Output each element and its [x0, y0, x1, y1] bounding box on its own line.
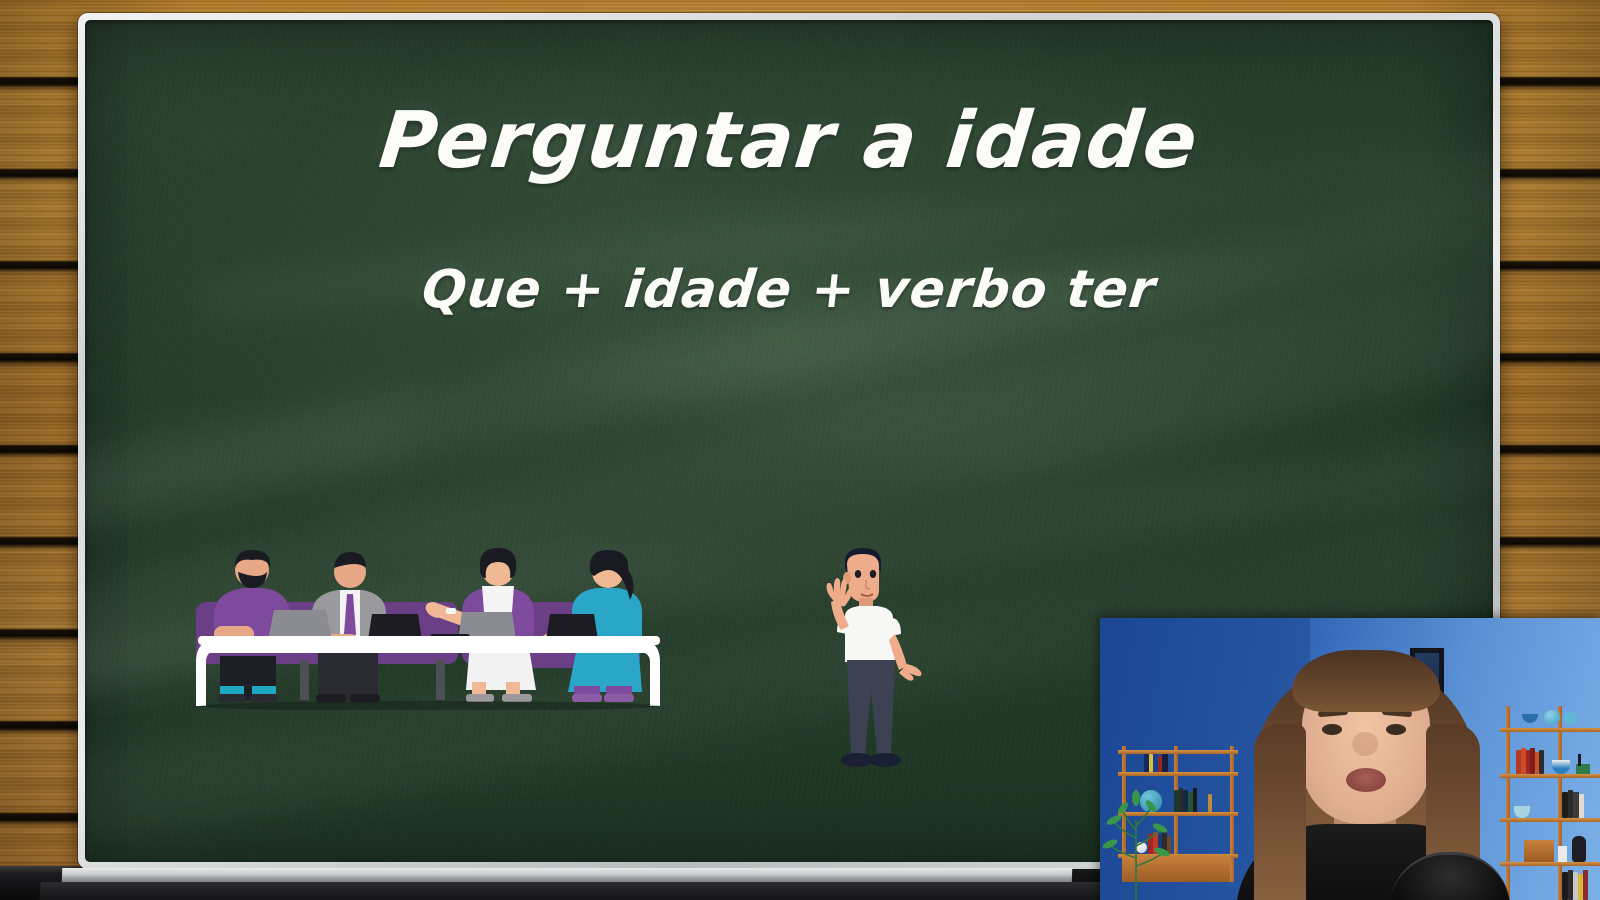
- eye: [1322, 724, 1342, 735]
- waving-person-illustration: [811, 540, 931, 775]
- presenter-nose: [1352, 732, 1378, 756]
- slide-title: Perguntar a idade: [85, 96, 1493, 186]
- chalk-ledge-shadow: [39, 882, 1100, 900]
- presenter-figure: [1240, 628, 1490, 900]
- presenter-mouth: [1346, 768, 1386, 792]
- right-bookshelf: [1500, 706, 1600, 900]
- meeting-table-illustration: [190, 530, 670, 710]
- shoe: [869, 753, 901, 767]
- tshirt: [845, 606, 895, 662]
- shoe: [841, 753, 873, 767]
- pants: [847, 660, 895, 754]
- slide-subtitle: Que + idade + verbo ter: [85, 260, 1493, 320]
- presenter-webcam-overlay[interactable]: [1100, 618, 1600, 900]
- presenter-bangs: [1292, 650, 1440, 712]
- potted-plant: [1100, 780, 1170, 900]
- hair-strand: [1254, 724, 1306, 900]
- eye: [1386, 724, 1406, 735]
